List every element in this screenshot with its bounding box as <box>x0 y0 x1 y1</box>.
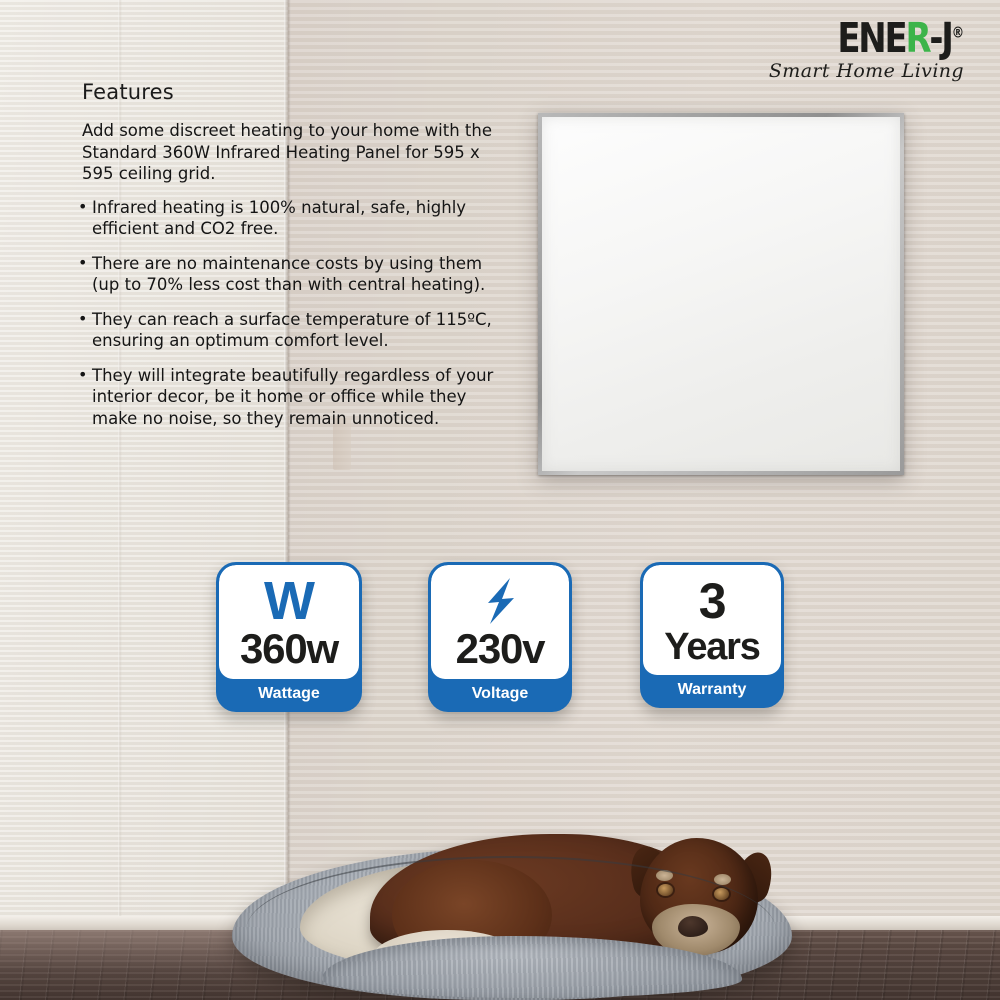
badge-voltage: 230v Voltage <box>428 562 572 712</box>
panel-face <box>542 117 900 471</box>
badge-body: W 360w <box>219 565 359 679</box>
brand-name-accent: R <box>905 14 929 62</box>
feature-bullets: Infrared heating is 100% natural, safe, … <box>78 197 498 430</box>
spec-badges: W 360w Wattage 230v Voltage 3 <box>0 562 1000 747</box>
badge-label: Warranty <box>643 675 781 705</box>
badge-label: Wattage <box>219 679 359 709</box>
warranty-number: 3 <box>699 575 726 627</box>
badge-body: 3 Years <box>643 565 781 675</box>
list-item: They can reach a surface temperature of … <box>78 309 498 352</box>
brand-name-part1: ENE <box>837 14 905 62</box>
badge-label: Voltage <box>431 679 569 709</box>
lifestyle-photo-dog-in-bed <box>222 812 802 1000</box>
product-infographic: ENER-J® Smart Home Living Features Add s… <box>0 0 1000 1000</box>
brand-logo: ENER-J® Smart Home Living <box>769 18 964 82</box>
brand-wordmark: ENER-J® <box>784 18 964 58</box>
list-item: They will integrate beautifully regardle… <box>78 365 498 430</box>
badge-body: 230v <box>431 565 569 679</box>
badge-wattage: W 360w Wattage <box>216 562 362 712</box>
brand-tagline: Smart Home Living <box>769 60 964 82</box>
badge-warranty: 3 Years Warranty <box>640 562 784 708</box>
wattage-w-icon: W <box>225 575 353 627</box>
lightning-bolt-icon <box>437 575 563 627</box>
brand-name-part2: -J <box>929 14 951 62</box>
features-intro: Add some discreet heating to your home w… <box>82 120 498 185</box>
product-image-heating-panel <box>538 113 904 475</box>
badge-value: 360w <box>225 627 353 671</box>
badge-value: 230v <box>437 627 563 671</box>
warranty-years-number: 3 <box>649 575 775 627</box>
badge-value: Years <box>649 627 775 667</box>
features-list: Add some discreet heating to your home w… <box>78 120 498 442</box>
registered-trademark-icon: ® <box>952 23 964 41</box>
list-item: Infrared heating is 100% natural, safe, … <box>78 197 498 240</box>
list-item: There are no maintenance costs by using … <box>78 253 498 296</box>
wattage-w-glyph: W <box>264 576 314 626</box>
page-title: Features <box>82 80 174 104</box>
